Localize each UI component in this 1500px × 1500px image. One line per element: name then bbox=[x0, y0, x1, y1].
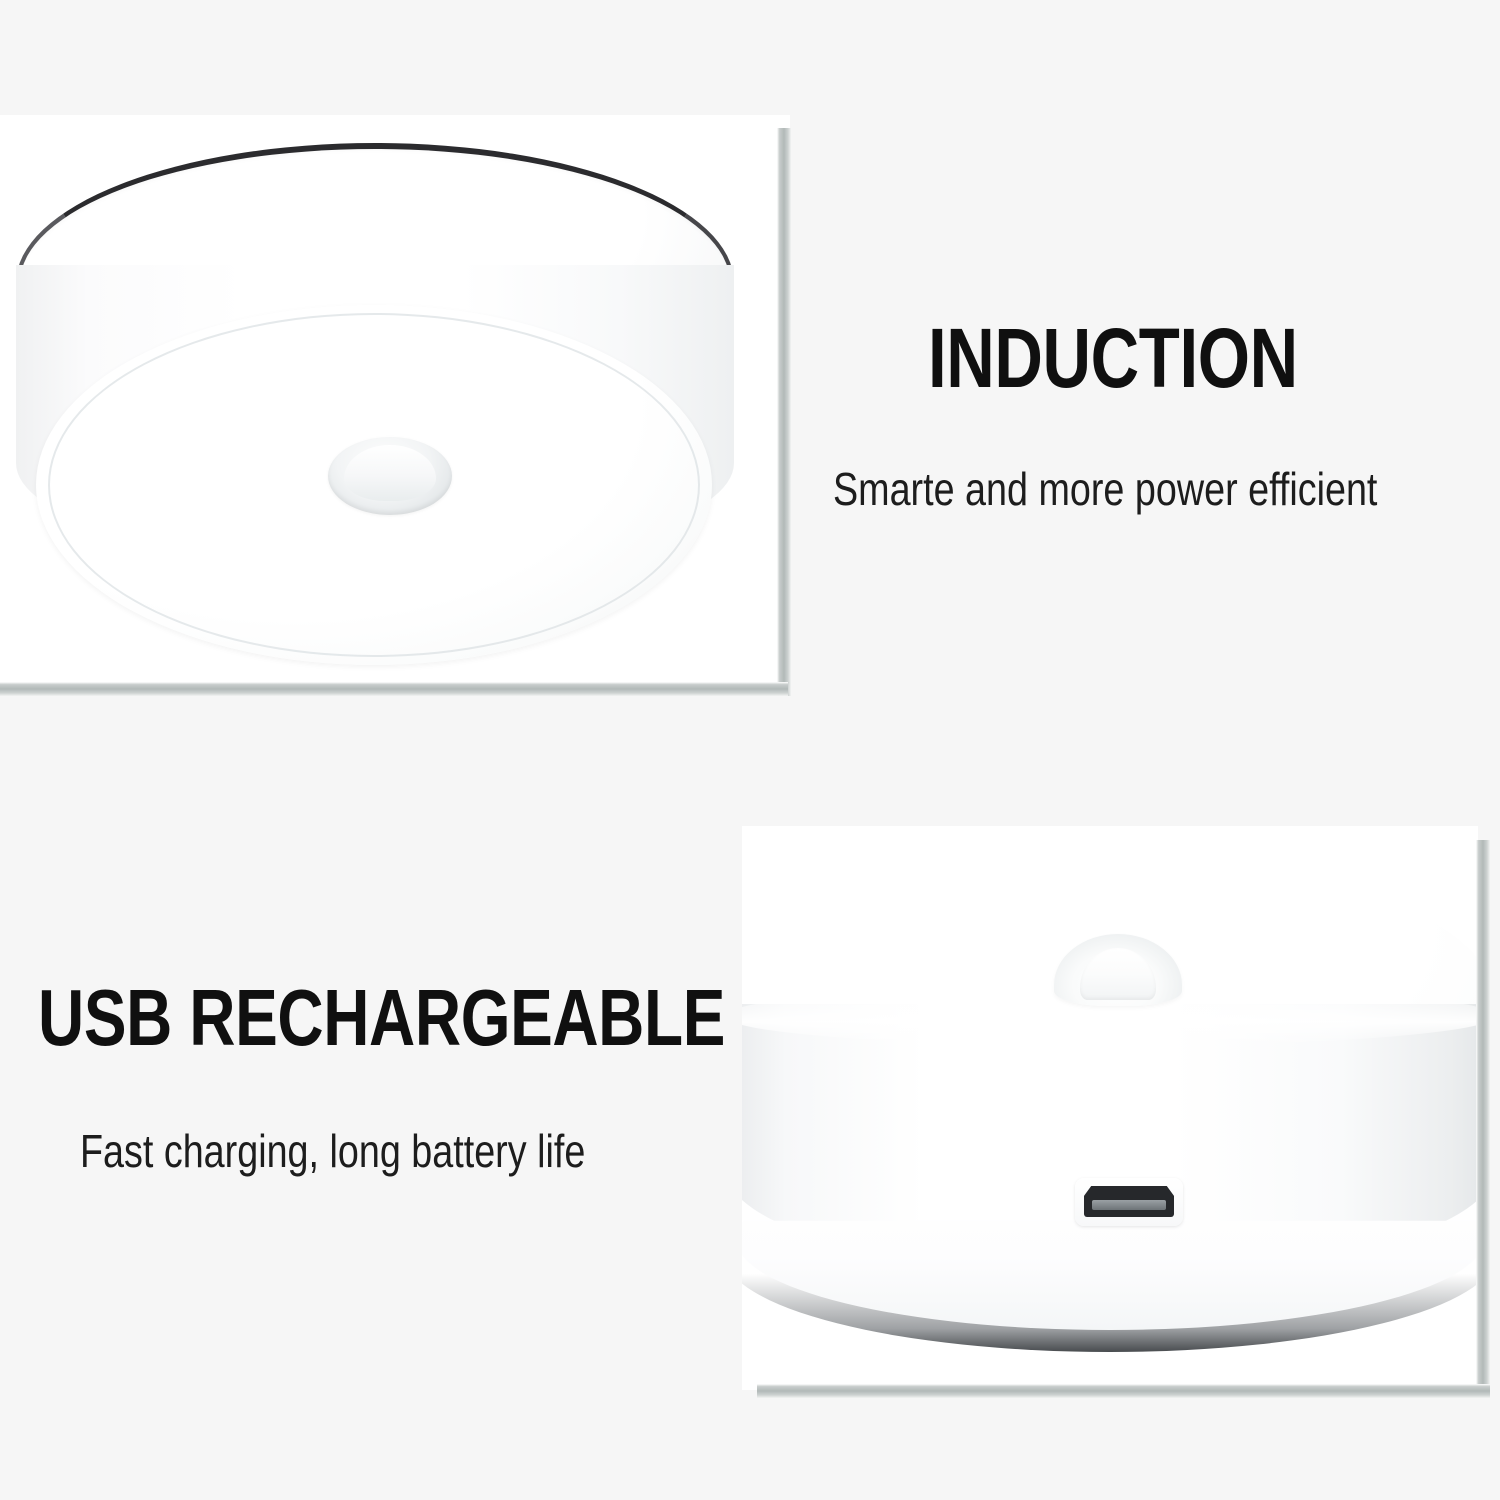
feature-subtitle-usb-rechargeable: Fast charging, long battery life bbox=[80, 1128, 585, 1174]
panel-shadow-bottom-induction bbox=[0, 682, 788, 696]
product-feature-board: INDUCTION Smarte and more power efficien… bbox=[0, 0, 1500, 1500]
feature-subtitle-induction: Smarte and more power efficient bbox=[833, 466, 1377, 512]
puck-light-angle-view bbox=[742, 826, 1478, 1390]
panel-shadow-right-induction bbox=[777, 128, 791, 696]
panel-shadow-right-usb bbox=[1476, 840, 1490, 1398]
feature-title-induction: INDUCTION bbox=[928, 316, 1298, 400]
product-photo-panel-usb-rechargeable bbox=[742, 826, 1478, 1390]
puck-light-top-view bbox=[0, 115, 790, 690]
panel-shadow-bottom-usb bbox=[757, 1384, 1490, 1398]
micro-usb-port-tongue bbox=[1092, 1200, 1166, 1210]
product-photo-panel-induction bbox=[0, 115, 790, 690]
feature-title-usb-rechargeable: USB RECHARGEABLE bbox=[38, 978, 725, 1058]
